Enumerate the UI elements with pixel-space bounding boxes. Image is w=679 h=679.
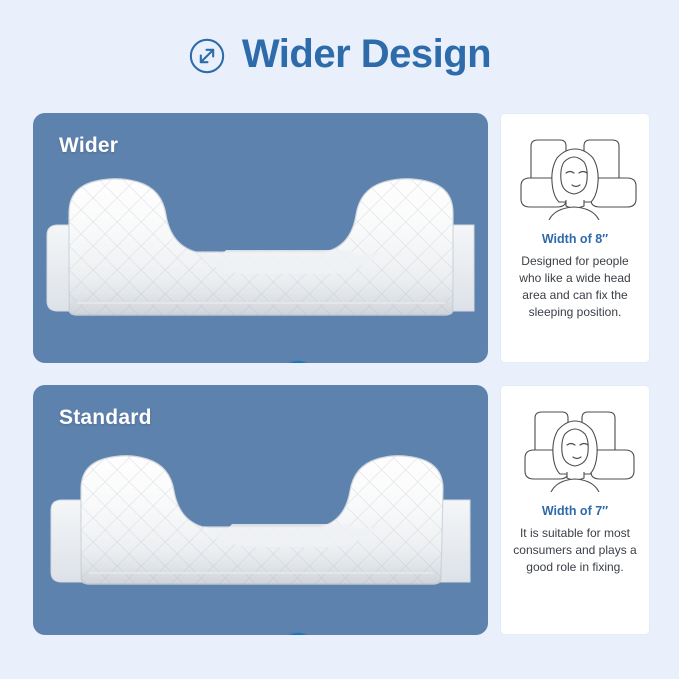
card-label-wider: Wider: [59, 134, 118, 158]
info-panel-wider: Width of 8″ Designed for people who like…: [500, 113, 650, 363]
info-text-standard: It is suitable for most consumers and pl…: [509, 525, 641, 576]
comparison-row-standard: Standard: [33, 385, 646, 635]
comparison-row-wider: Wider: [33, 113, 646, 363]
page-header: Wider Design: [0, 0, 679, 108]
info-heading-standard: Width of 7″: [542, 504, 608, 518]
product-card-standard: Standard: [33, 385, 488, 635]
sleeping-woman-illustration-standard: [509, 400, 641, 492]
expand-diagonal-arrow-icon: [188, 37, 226, 75]
sleeping-woman-illustration-wide: [509, 128, 641, 220]
info-heading-wider: Width of 8″: [542, 232, 608, 246]
product-card-wider: Wider: [33, 113, 488, 363]
info-panel-standard: Width of 7″ It is suitable for most cons…: [500, 385, 650, 635]
info-text-wider: Designed for people who like a wide head…: [509, 253, 641, 321]
page-title: Wider Design: [242, 32, 491, 77]
card-label-standard: Standard: [59, 406, 152, 430]
